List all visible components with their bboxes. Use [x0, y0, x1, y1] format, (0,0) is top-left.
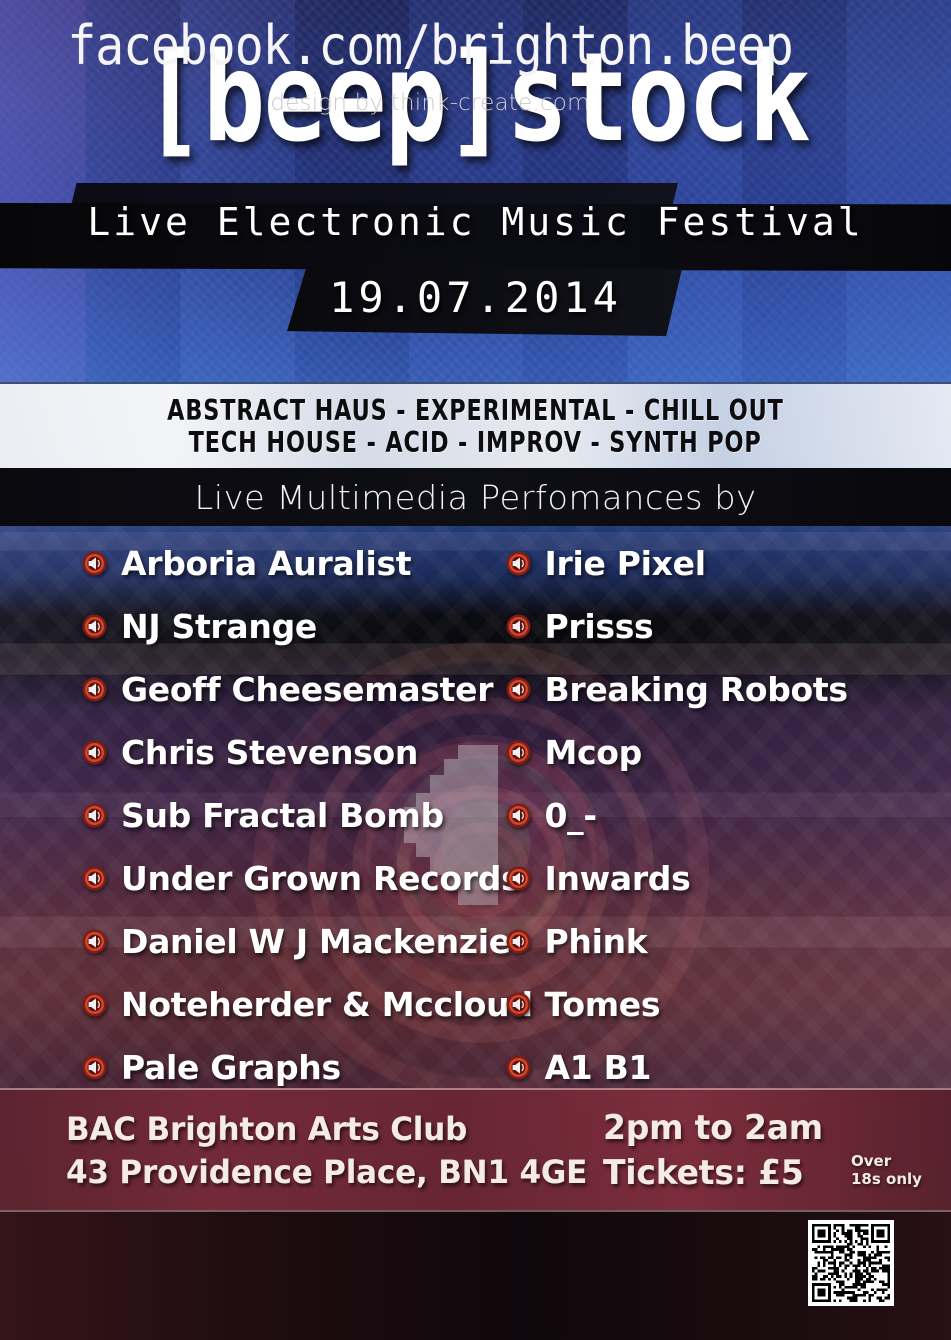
- speaker-icon: [506, 929, 531, 954]
- venue-name: BAC Brighton Arts Club: [66, 1108, 587, 1151]
- speaker-icon: [82, 1055, 107, 1080]
- artist-name: Chris Stevenson: [121, 733, 418, 772]
- artist-name: Sub Fractal Bomb: [121, 796, 444, 835]
- artist-row: Breaking Robots: [506, 658, 951, 721]
- speaker-icon: [506, 1055, 531, 1080]
- speaker-icon: [506, 614, 531, 639]
- speaker-icon: [82, 929, 107, 954]
- speaker-icon: [506, 677, 531, 702]
- speaker-icon: [82, 677, 107, 702]
- artist-name: Arboria Auralist: [121, 544, 411, 583]
- artist-name: Prisss: [545, 607, 654, 646]
- artist-name: Irie Pixel: [545, 544, 706, 583]
- artist-name: NJ Strange: [121, 607, 317, 646]
- artist-name: Tomes: [545, 985, 661, 1024]
- artist-row: Sub Fractal Bomb: [82, 784, 476, 847]
- qr-code-icon[interactable]: [808, 1220, 894, 1306]
- artist-name: Noteherder & Mccloud: [121, 985, 533, 1024]
- artist-name: Inwards: [545, 859, 691, 898]
- age-restriction-line-2: 18s only: [851, 1170, 943, 1188]
- artist-row: Irie Pixel: [506, 532, 951, 595]
- artist-name: Pale Graphs: [121, 1048, 341, 1087]
- artist-row: Geoff Cheesemaster: [82, 658, 476, 721]
- artist-column-left: Arboria AuralistNJ StrangeGeoff Cheesema…: [0, 526, 476, 1088]
- artist-name: Geoff Cheesemaster: [121, 670, 493, 709]
- artist-row: Arboria Auralist: [82, 532, 476, 595]
- speaker-icon: [82, 992, 107, 1017]
- speaker-icon: [82, 803, 107, 828]
- venue-address: 43 Providence Place, BN1 4GE: [66, 1151, 587, 1194]
- festival-poster: [beep]stock Live Electronic Music Festiv…: [0, 0, 951, 1340]
- artist-row: Phink: [506, 910, 951, 973]
- speaker-icon: [82, 551, 107, 576]
- artist-row: Noteherder & Mccloud: [82, 973, 476, 1036]
- artist-row: Daniel W J Mackenzie: [82, 910, 476, 973]
- age-restriction-line-1: Over: [851, 1152, 943, 1170]
- speaker-icon: [82, 866, 107, 891]
- speaker-icon: [82, 740, 107, 765]
- artist-name: 0_-: [545, 796, 597, 835]
- artist-name: Under Grown Records: [121, 859, 520, 898]
- ticket-details: 2pm to 2am Tickets: £5 Over 18s only: [603, 1106, 951, 1196]
- artist-name: Mcop: [545, 733, 643, 772]
- speaker-icon: [506, 803, 531, 828]
- artist-lineup: Arboria AuralistNJ StrangeGeoff Cheesema…: [0, 526, 951, 1088]
- artist-row: Prisss: [506, 595, 951, 658]
- event-hours: 2pm to 2am: [603, 1106, 898, 1151]
- genre-line-1: ABSTRACT HAUS - EXPERIMENTAL - CHILL OUT: [167, 395, 784, 428]
- artist-row: Mcop: [506, 721, 951, 784]
- artist-row: NJ Strange: [82, 595, 476, 658]
- speaker-icon: [506, 866, 531, 891]
- artist-name: Phink: [545, 922, 648, 961]
- artist-row: Under Grown Records: [82, 847, 476, 910]
- artist-name: A1 B1: [545, 1048, 652, 1087]
- artist-name: Breaking Robots: [545, 670, 848, 709]
- venue-bar: BAC Brighton Arts Club 43 Providence Pla…: [0, 1088, 951, 1212]
- artist-name: Daniel W J Mackenzie: [121, 922, 511, 961]
- genre-line-2: TECH HOUSE - ACID - IMPROV - SYNTH POP: [189, 427, 762, 460]
- artist-row: Chris Stevenson: [82, 721, 476, 784]
- genre-bar: ABSTRACT HAUS - EXPERIMENTAL - CHILL OUT…: [0, 382, 951, 470]
- facebook-link[interactable]: facebook.com/brighton.beep: [0, 14, 860, 78]
- performances-heading: Live Multimedia Perfomances by: [194, 478, 756, 517]
- speaker-icon: [506, 740, 531, 765]
- speaker-icon: [82, 614, 107, 639]
- artist-row: Tomes: [506, 973, 951, 1036]
- speaker-icon: [506, 992, 531, 1017]
- artist-row: 0_-: [506, 784, 951, 847]
- venue-details: BAC Brighton Arts Club 43 Providence Pla…: [0, 1108, 603, 1193]
- artist-column-right: Irie PixelPrisssBreaking RobotsMcop0_-In…: [476, 526, 951, 1088]
- artist-row: Inwards: [506, 847, 951, 910]
- speaker-icon: [506, 551, 531, 576]
- event-date: 19.07.2014: [0, 273, 951, 322]
- design-credit: design by think-create.com: [0, 90, 860, 116]
- subtitle: Live Electronic Music Festival: [0, 200, 951, 244]
- performances-heading-bar: Live Multimedia Perfomances by: [0, 468, 951, 526]
- age-restriction: Over 18s only: [851, 1152, 943, 1188]
